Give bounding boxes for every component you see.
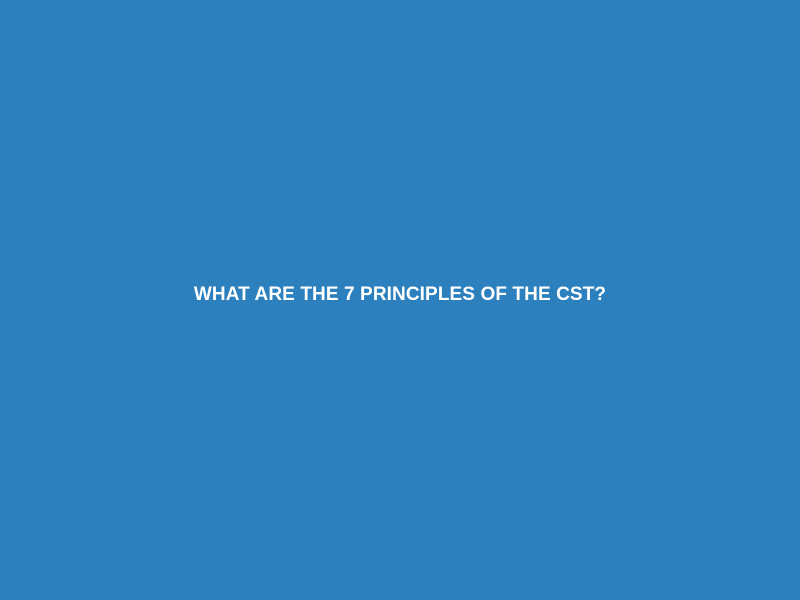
title-card: WHAT ARE THE 7 PRINCIPLES OF THE CST?: [0, 0, 800, 600]
headline-text: WHAT ARE THE 7 PRINCIPLES OF THE CST?: [0, 284, 800, 306]
